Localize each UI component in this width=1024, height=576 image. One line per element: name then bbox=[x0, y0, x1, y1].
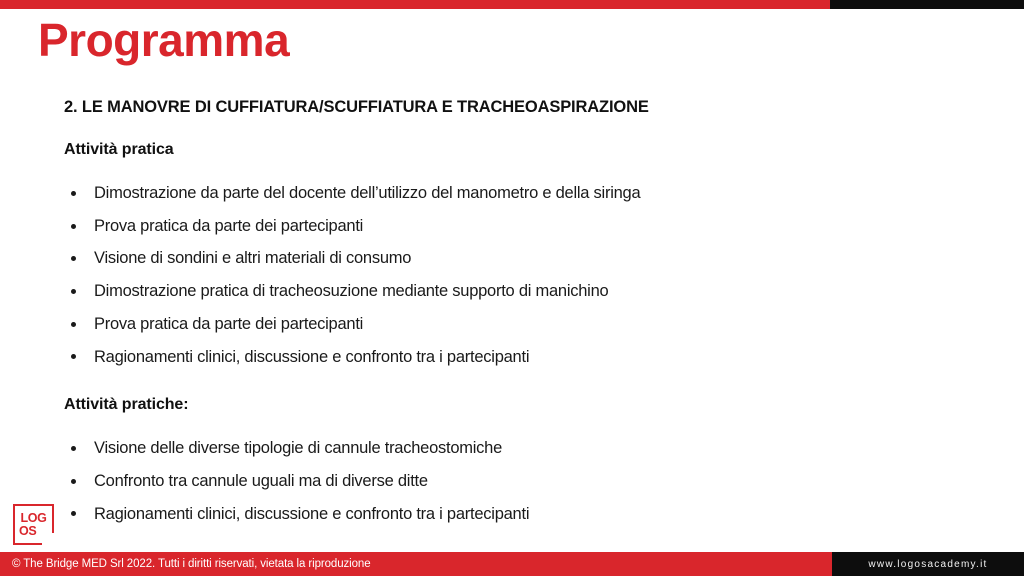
page-title: Programma bbox=[38, 12, 289, 68]
list-item: Confronto tra cannule uguali ma di diver… bbox=[64, 465, 964, 498]
list-item: Prova pratica da parte dei partecipanti bbox=[64, 308, 964, 341]
list-item: Ragionamenti clinici, discussione e conf… bbox=[64, 498, 964, 531]
bullet-dot-icon bbox=[71, 308, 76, 341]
list-item-label: Prova pratica da parte dei partecipanti bbox=[94, 315, 363, 333]
footer-website-area: www.logosacademy.it bbox=[832, 552, 1024, 576]
list-item-label: Dimostrazione da parte del docente dell’… bbox=[94, 184, 640, 202]
bullet-list: Dimostrazione da parte del docente dell’… bbox=[64, 177, 964, 373]
list-item-label: Visione delle diverse tipologie di cannu… bbox=[94, 439, 502, 457]
list-item: Dimostrazione da parte del docente dell’… bbox=[64, 177, 964, 210]
subsection-heading: Attività pratica bbox=[64, 139, 964, 161]
block-spacer bbox=[64, 387, 964, 394]
top-accent-bar-black bbox=[830, 0, 1024, 9]
footer-copyright-area: © The Bridge MED Srl 2022. Tutti i dirit… bbox=[0, 552, 832, 576]
bullet-dot-icon bbox=[71, 275, 76, 308]
list-item-label: Ragionamenti clinici, discussione e conf… bbox=[94, 348, 529, 366]
bullet-dot-icon bbox=[71, 341, 76, 374]
bullet-dot-icon bbox=[71, 465, 76, 498]
bullet-list: Visione delle diverse tipologie di cannu… bbox=[64, 432, 964, 530]
list-item: Visione di sondini e altri materiali di … bbox=[64, 242, 964, 275]
slide-body: 2. LE MANOVRE DI CUFFIATURA/SCUFFIATURA … bbox=[64, 96, 964, 544]
section-heading: 2. LE MANOVRE DI CUFFIATURA/SCUFFIATURA … bbox=[64, 96, 964, 118]
bullet-dot-icon bbox=[71, 432, 76, 465]
list-item: Visione delle diverse tipologie di cannu… bbox=[64, 432, 964, 465]
list-item: Ragionamenti clinici, discussione e conf… bbox=[64, 341, 964, 374]
logo-text: LOG OS bbox=[13, 504, 54, 545]
logo-text-line2: OS bbox=[13, 525, 36, 538]
list-item-label: Ragionamenti clinici, discussione e conf… bbox=[94, 505, 529, 523]
list-item-label: Dimostrazione pratica di tracheosuzione … bbox=[94, 282, 608, 300]
bullet-dot-icon bbox=[71, 177, 76, 210]
subsection-heading: Attività pratiche: bbox=[64, 394, 964, 416]
logo-text-line1: LOG bbox=[21, 512, 47, 525]
slide: Programma 2. LE MANOVRE DI CUFFIATURA/SC… bbox=[0, 0, 1024, 576]
list-item: Prova pratica da parte dei partecipanti bbox=[64, 210, 964, 243]
list-item: Dimostrazione pratica di tracheosuzione … bbox=[64, 275, 964, 308]
bullet-dot-icon bbox=[71, 210, 76, 243]
list-item-label: Confronto tra cannule uguali ma di diver… bbox=[94, 472, 428, 490]
top-accent-bar bbox=[0, 0, 1024, 9]
content-block-2: Attività pratiche: Visione delle diverse… bbox=[64, 394, 964, 530]
bullet-dot-icon bbox=[71, 242, 76, 275]
list-item-label: Prova pratica da parte dei partecipanti bbox=[94, 217, 363, 235]
list-item-label: Visione di sondini e altri materiali di … bbox=[94, 249, 411, 267]
bullet-dot-icon bbox=[71, 498, 76, 531]
top-accent-bar-red bbox=[0, 0, 830, 9]
footer-bar: © The Bridge MED Srl 2022. Tutti i dirit… bbox=[0, 552, 1024, 576]
content-block-1: Attività pratica Dimostrazione da parte … bbox=[64, 139, 964, 373]
logos-logo: LOG OS bbox=[13, 504, 54, 545]
footer-copyright-text: © The Bridge MED Srl 2022. Tutti i dirit… bbox=[0, 558, 371, 570]
footer-website-text[interactable]: www.logosacademy.it bbox=[868, 559, 987, 570]
